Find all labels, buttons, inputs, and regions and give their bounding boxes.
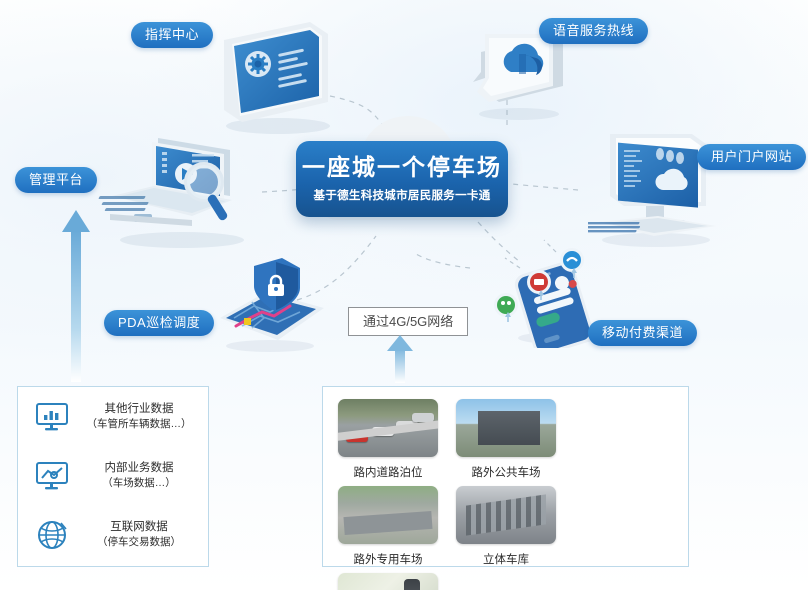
- banner-subtitle: 基于德生科技城市居民服务一卡通: [314, 187, 491, 203]
- charging-station-photo: [338, 573, 438, 590]
- label-network: 通过4G/5G网络: [348, 307, 468, 336]
- monitor-line-chart-icon: [28, 461, 76, 491]
- label-voice-hotline[interactable]: 语音服务热线: [539, 18, 648, 44]
- payment-badge-alipay: [560, 248, 584, 272]
- scene-item[interactable]: 充电桩/站: [334, 573, 442, 590]
- data-sources-card: 其他行业数据 （车管所车辆数据…） 内部业务数据 （车场数据…）: [17, 386, 209, 567]
- data-source-detail: （车管所车辆数据…）: [76, 417, 202, 431]
- label-pda-dispatch[interactable]: PDA巡检调度: [104, 310, 214, 336]
- scene-item[interactable]: 路内道路泊位: [334, 399, 442, 480]
- label-command-center[interactable]: 指挥中心: [131, 22, 213, 48]
- payment-badge-wechat: [494, 293, 518, 317]
- scene-item[interactable]: 路外专用车场: [334, 486, 442, 567]
- data-flow-up-arrow-icon: [60, 210, 92, 387]
- street-parking-photo: [338, 399, 438, 457]
- dedicated-parking-lot-photo: [338, 486, 438, 544]
- scenes-more-indicator: • • •: [452, 573, 560, 590]
- public-parking-lot-photo: [456, 399, 556, 457]
- data-source-title: 其他行业数据: [76, 402, 202, 418]
- parking-scenes-card: 路内道路泊位 路外公共车场 路外专用车场 立体车库 充电桩/站 • • •: [322, 386, 689, 567]
- data-source-row[interactable]: 其他行业数据 （车管所车辆数据…）: [18, 387, 208, 446]
- central-banner: 一座城一个停车场 基于德生科技城市居民服务一卡通: [296, 141, 508, 217]
- label-management-platform[interactable]: 管理平台: [15, 167, 97, 193]
- data-source-detail: （停车交易数据）: [76, 535, 202, 549]
- management-laptop-icon: [96, 134, 266, 254]
- scene-item[interactable]: 路外公共车场: [452, 399, 560, 480]
- multi-level-garage-photo: [456, 486, 556, 544]
- label-mobile-payment[interactable]: 移动付费渠道: [588, 320, 697, 346]
- scene-caption: 路外专用车场: [354, 551, 423, 567]
- data-source-detail: （车场数据…）: [76, 476, 202, 490]
- diagram-canvas: 一座城一个停车场 基于德生科技城市居民服务一卡通 指挥中心 语音服务热线 用户门…: [0, 0, 808, 590]
- label-user-portal[interactable]: 用户门户网站: [697, 144, 806, 170]
- scene-caption: 立体车库: [483, 551, 529, 567]
- scene-item[interactable]: 立体车库: [452, 486, 560, 567]
- data-source-title: 内部业务数据: [76, 461, 202, 477]
- data-source-row[interactable]: 内部业务数据 （车场数据…）: [18, 446, 208, 505]
- payment-badge-union: [527, 270, 551, 294]
- banner-title: 一座城一个停车场: [302, 155, 502, 179]
- globe-network-icon: [28, 519, 76, 551]
- scene-caption: 路内道路泊位: [354, 464, 423, 480]
- scene-caption: 路外公共车场: [472, 464, 541, 480]
- pda-shield-tablet-icon: [212, 256, 332, 356]
- monitor-bar-chart-icon: [28, 402, 76, 432]
- data-source-row[interactable]: 互联网数据 （停车交易数据）: [18, 505, 208, 564]
- data-source-title: 互联网数据: [76, 520, 202, 536]
- network-up-arrow-icon: [385, 335, 415, 388]
